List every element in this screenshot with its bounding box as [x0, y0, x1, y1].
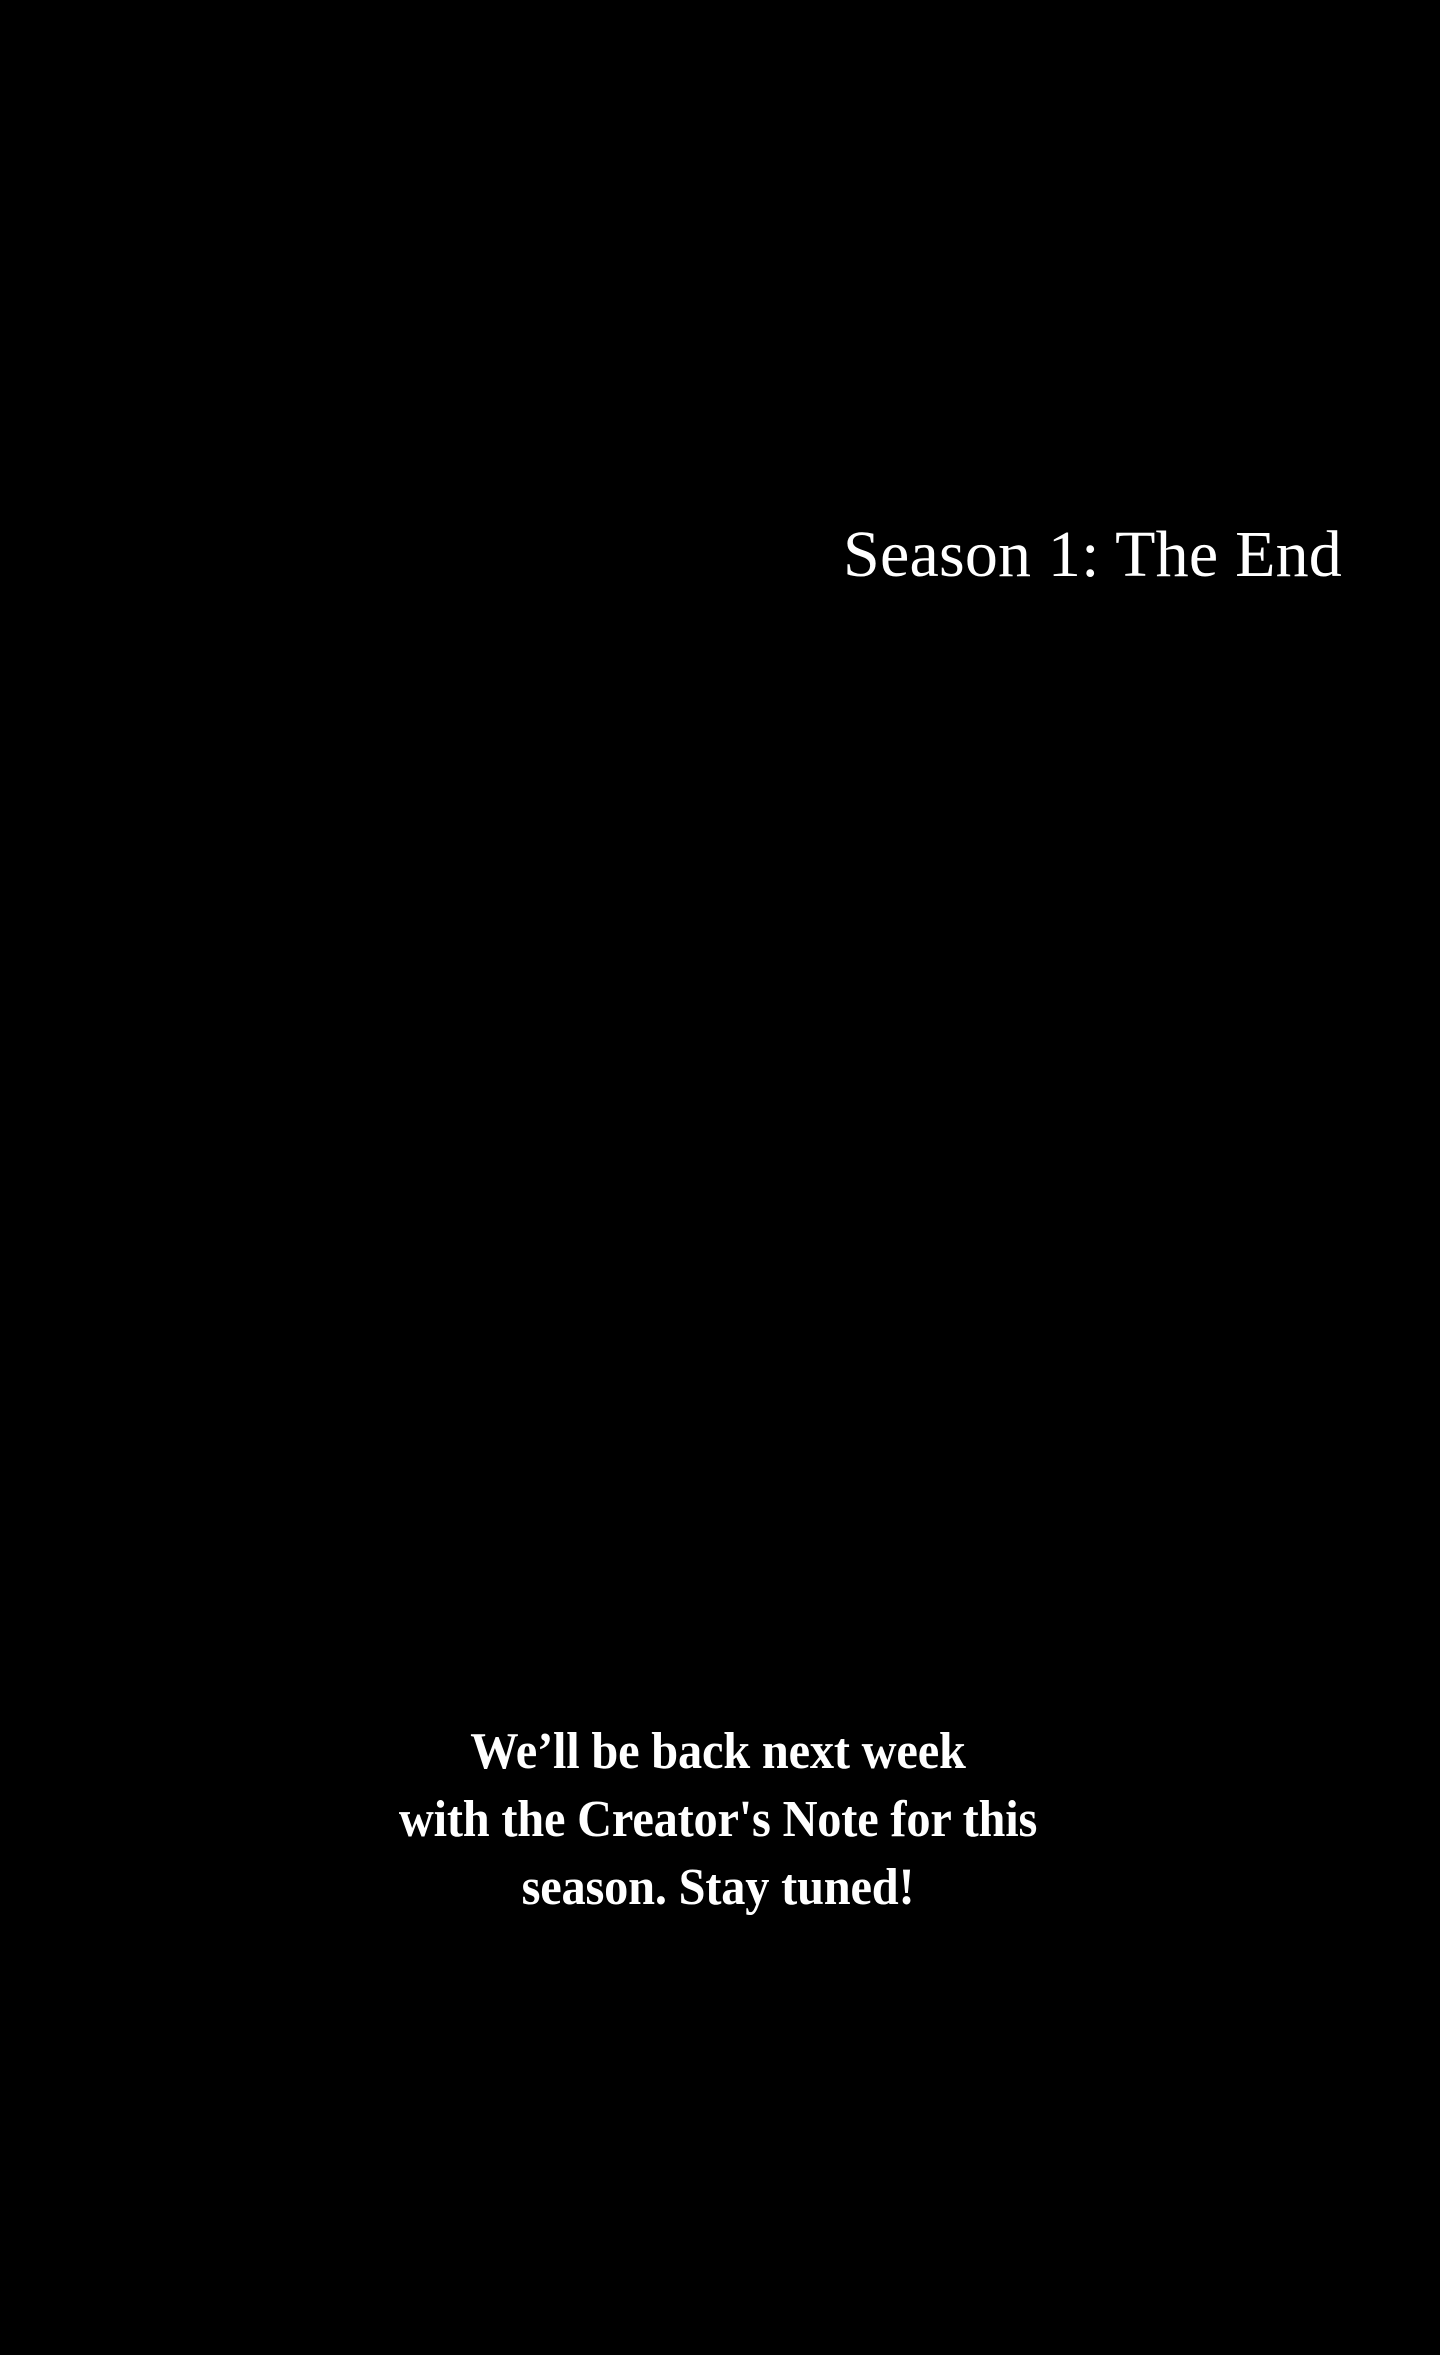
closing-note-block: We’ll be back next week with the Creator…	[50, 1718, 1385, 1922]
season-end-title: Season 1: The End	[0, 521, 1342, 590]
closing-note-line: We’ll be back next week	[50, 1718, 1385, 1786]
closing-note-line: with the Creator's Note for this	[50, 1786, 1385, 1854]
season-end-card-screen: Season 1: The End We’ll be back next wee…	[0, 0, 1440, 2355]
closing-note-line: season. Stay tuned!	[50, 1854, 1385, 1922]
